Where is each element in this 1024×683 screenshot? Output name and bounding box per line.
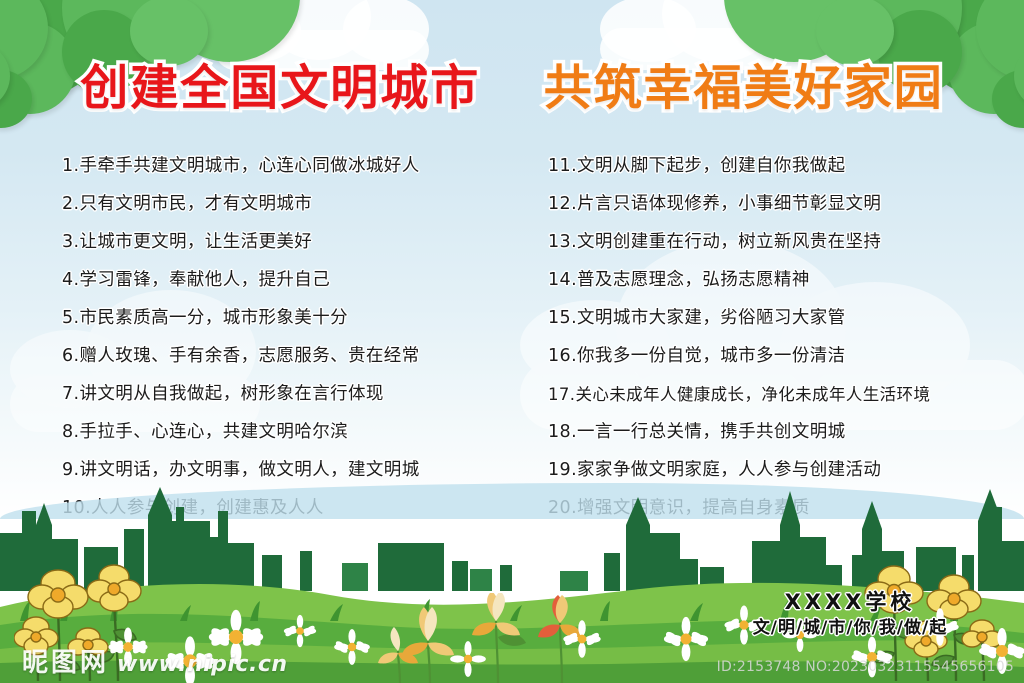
slogan-item: 15.文明城市大家建，劣俗陋习大家管 [548,300,1018,338]
poster-title: 创建全国文明城市 共筑幸福美好家园 [0,64,1024,112]
slogan-item: 1.手牵手共建文明城市，心连心同做冰城好人 [62,148,532,186]
daisy-icon [284,615,317,647]
slogan-item: 8.手拉手、心连心，共建文明哈尔滨 [62,414,532,452]
slogan-column-right: 11.文明从脚下起步，创建自你我做起 12.片言只语体现修养，小事细节彰显文明 … [548,148,1018,528]
school-motto: 文/明/城/市/你/我/做/起 [714,618,986,639]
slogan-item: 12.片言只语体现修养，小事细节彰显文明 [548,186,1018,224]
slogan-item: 7.讲文明从自我做起，树形象在言行体现 [62,376,532,414]
school-name: ⅩⅩⅩⅩ学校 [714,589,986,615]
slogan-item: 2.只有文明市民，才有文明城市 [62,186,532,224]
slogan-item: 16.你我多一份自觉，城市多一份清洁 [548,338,1018,376]
slogan-item: 13.文明创建重在行动，树立新风贵在坚持 [548,224,1018,262]
slogan-item: 6.赠人玫瑰、手有余香，志愿服务、贵在经常 [62,338,532,376]
daisy-icon [563,620,601,657]
slogan-column-left: 1.手牵手共建文明城市，心连心同做冰城好人 2.只有文明市民，才有文明城市 3.… [62,148,532,528]
daisy-icon [450,641,486,677]
poster-canvas: 创建全国文明城市 共筑幸福美好家园 1.手牵手共建文明城市，心连心同做冰城好人 … [0,0,1024,683]
slogan-item: 14.普及志愿理念，弘扬志愿精神 [548,262,1018,300]
slogan-item: 3.让城市更文明，让生活更美好 [62,224,532,262]
daisy-icon [334,629,370,665]
slogan-item: 11.文明从脚下起步，创建自你我做起 [548,148,1018,186]
slogan-item: 4.学习雷锋，奉献他人，提升自己 [62,262,532,300]
watermark-id-text: ID:2153748 NO:20230323115545656105 [717,659,1014,675]
title-part-one: 创建全国文明城市 [80,60,480,116]
school-signature: ⅩⅩⅩⅩ学校 文/明/城/市/你/我/做/起 [714,589,986,640]
daisy-icon [664,617,709,661]
watermark: 昵图网 www.nipic.cn [22,642,288,679]
slogan-item: 5.市民素质高一分，城市形象美十分 [62,300,532,338]
watermark-site-name: 昵图网 [22,642,109,679]
watermark-url: www.nipic.cn [117,652,288,679]
slogan-area: 1.手牵手共建文明城市，心连心同做冰城好人 2.只有文明市民，才有文明城市 3.… [0,148,1024,518]
title-part-two: 共筑幸福美好家园 [544,60,944,116]
slogan-item: 18.一言一行总关情，携手共创文明城 [548,414,1018,452]
slogan-item: 17.关心未成年人健康成长，净化未成年人生活环境 [548,376,1018,414]
